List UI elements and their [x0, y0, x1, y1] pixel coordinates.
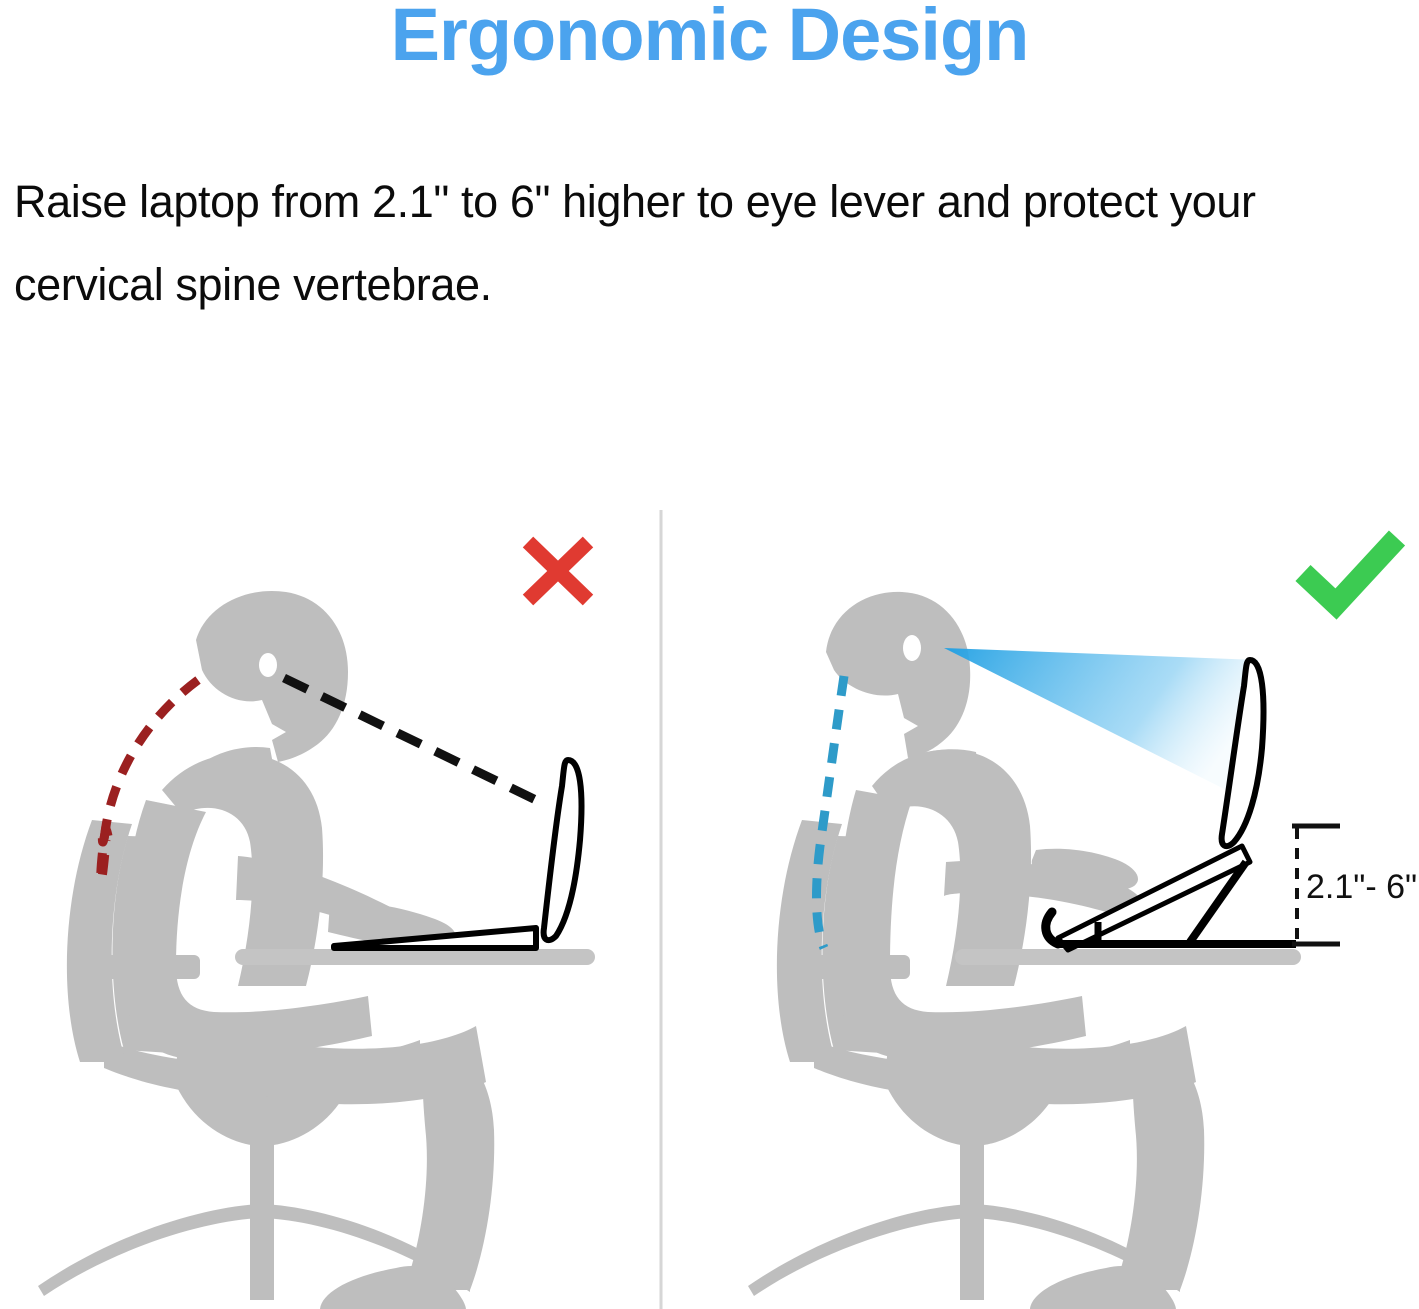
- desk-right: [955, 949, 1301, 965]
- illustration-area: 2.1"- 6": [0, 0, 1419, 1309]
- bad-spine-line-lower: [102, 826, 108, 842]
- right-panel-illustration: 2.1"- 6": [748, 538, 1417, 1309]
- left-panel-illustration: [38, 542, 595, 1309]
- dimension-label: 2.1"- 6": [1306, 868, 1417, 906]
- check-icon: [1303, 538, 1397, 604]
- infographic-page: Ergonomic Design Raise laptop from 2.1" …: [0, 0, 1419, 1309]
- cross-icon: [528, 542, 588, 600]
- height-dimension: 2.1"- 6": [1292, 826, 1417, 944]
- desk-left: [235, 949, 595, 965]
